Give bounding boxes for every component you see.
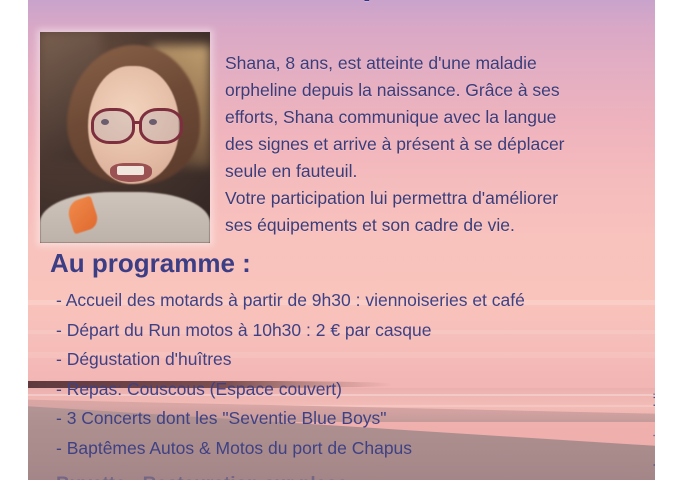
poster-canvas: un 3 maisons pour Shana Sha <box>28 0 655 480</box>
intro-line: orpheline depuis la naissance. Grâce à s… <box>225 77 625 104</box>
intro-line: efforts, Shana communique avec la langue <box>225 104 625 131</box>
programme-list: - Accueil des motards à partir de 9h30 :… <box>56 286 611 463</box>
page-title: un 3 maisons pour Shana <box>28 0 655 3</box>
photo-eyeglass-bridge <box>134 121 143 124</box>
list-item: - 3 Concerts dont les "Seventie Blue Boy… <box>56 404 611 434</box>
photo-eyeglass-right <box>139 108 183 144</box>
list-item: - Repas: Couscous (Espace couvert) <box>56 375 611 405</box>
photo-teeth <box>117 166 144 175</box>
list-item: - Départ du Run motos à 10h30 : 2 € par … <box>56 316 611 346</box>
intro-line: ses équipements et son cadre de vie. <box>225 212 625 239</box>
photo-sweater <box>40 192 210 243</box>
intro-paragraph: Shana, 8 ans, est atteinte d'une maladie… <box>225 50 625 239</box>
intro-line: des signes et arrive à présent à se dépl… <box>225 131 625 158</box>
list-item: - Dégustation d'huîtres <box>56 345 611 375</box>
photo-eyeglass-left <box>91 108 135 144</box>
bottom-cropped-text: Buvette - Restauration sur place <box>56 474 347 480</box>
intro-line: Votre participation lui permettra d'amél… <box>225 185 625 212</box>
programme-heading: Au programme : <box>50 248 251 279</box>
poster-page: un 3 maisons pour Shana Sha <box>0 0 678 480</box>
intro-line: seule en fauteuil. <box>225 158 625 185</box>
photo-artwork <box>40 32 210 243</box>
list-item: - Baptêmes Autos & Motos du port de Chap… <box>56 434 611 464</box>
shana-photo <box>40 32 210 243</box>
legal-notice: Ne pas jeter sur la voie publique <box>651 369 655 480</box>
list-item: - Accueil des motards à partir de 9h30 :… <box>56 286 611 316</box>
intro-line: Shana, 8 ans, est atteinte d'une maladie <box>225 50 625 77</box>
